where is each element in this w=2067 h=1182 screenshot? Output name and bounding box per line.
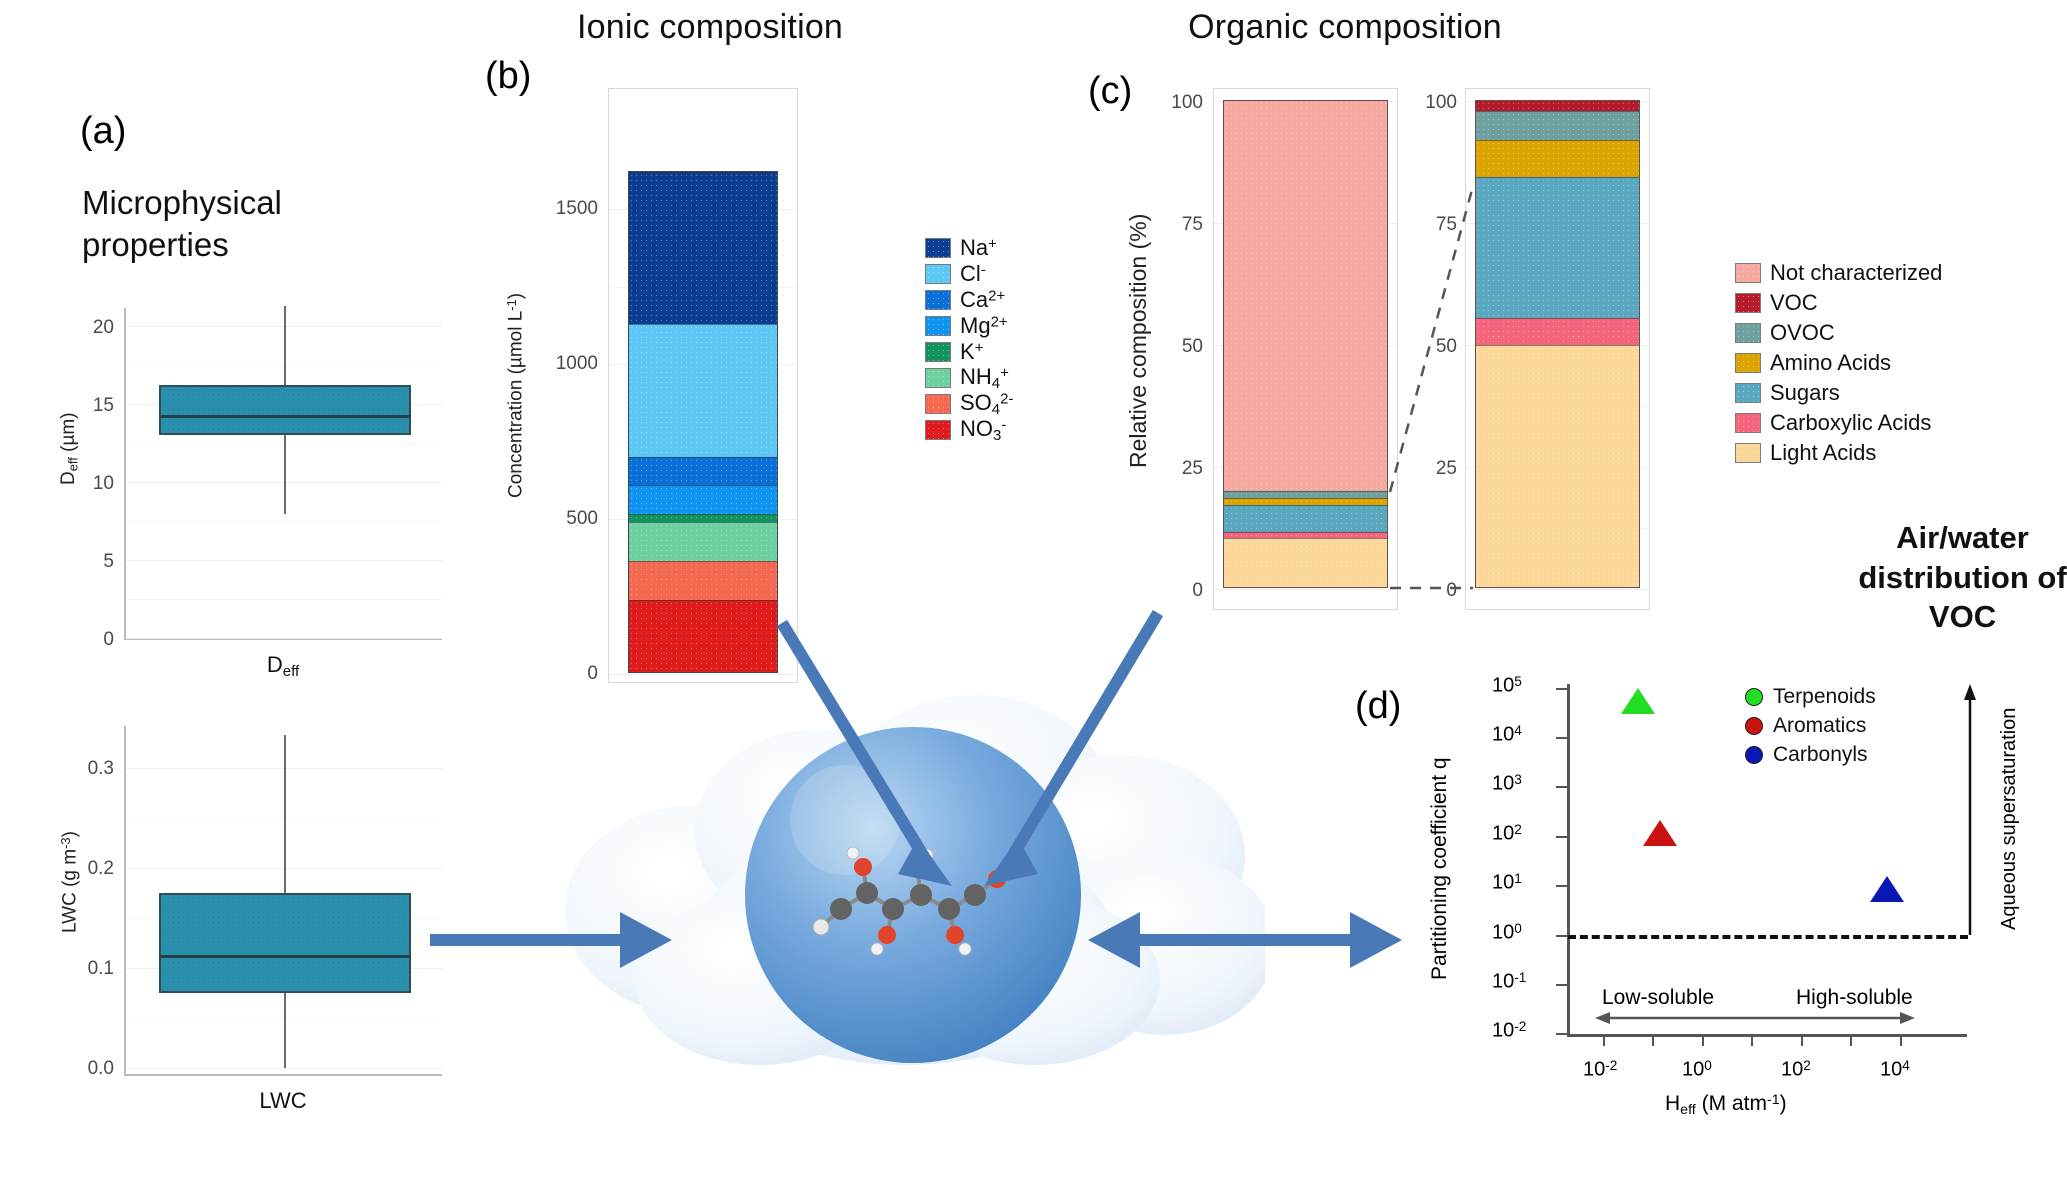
arrow-organic-to-droplet [1010, 613, 1158, 860]
arrowhead-droplet-in [1088, 912, 1140, 968]
voc-high-soluble-label: High-soluble [1796, 986, 1913, 1010]
deff-median-line [159, 415, 411, 418]
arrowhead-voc-out [1350, 912, 1402, 968]
voc-supersaturation-label: Aqueous supersaturation [1998, 708, 2021, 930]
voc-partitioning-chart: Partitioning coefficient q 105 104 103 1… [1420, 660, 2040, 1160]
arrow-ionic-to-droplet [782, 623, 926, 860]
arrowhead-microphysics [620, 912, 672, 968]
arrowhead-ionic [898, 838, 952, 886]
voc-supersaturation-arrow [1420, 660, 2040, 1160]
arrowhead-organic [984, 838, 1038, 886]
voc-low-soluble-label: Low-soluble [1602, 986, 1714, 1010]
lwc-median-line [159, 955, 411, 958]
